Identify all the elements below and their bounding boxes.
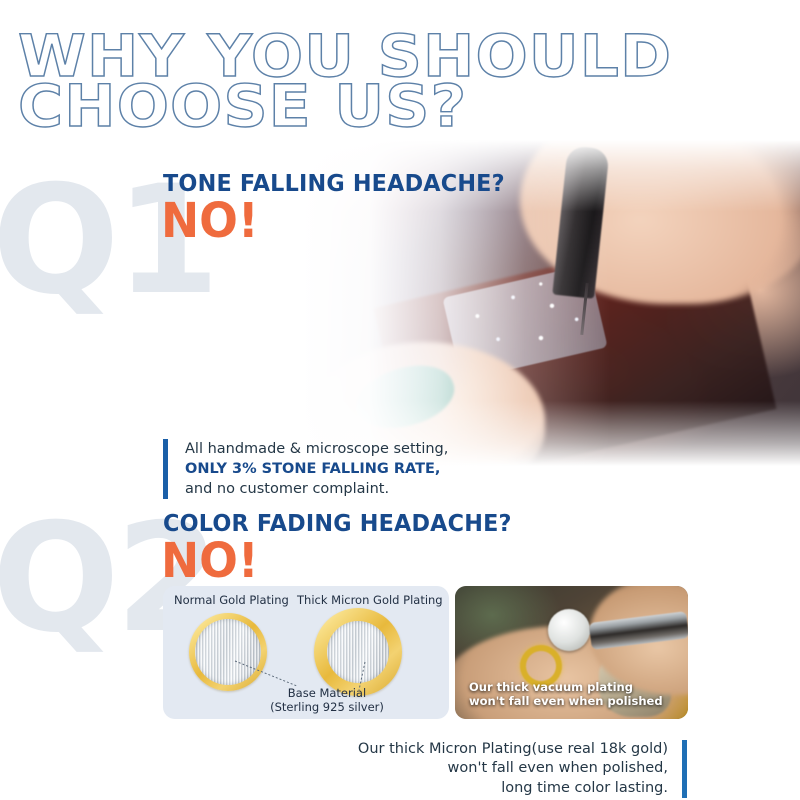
q1-quote-block: All handmade & microscope setting, ONLY …: [163, 439, 448, 499]
diagram-coin-normal-plating: [189, 613, 267, 691]
footnote-line-1: Our thick Micron Plating(use real 18k go…: [330, 740, 668, 759]
q2-answer: NO!: [161, 537, 259, 585]
q1-answer: NO!: [161, 197, 259, 245]
q1-quote-line-1: All handmade & microscope setting,: [185, 439, 448, 459]
diagram-label-thick-plating: Thick Micron Gold Plating: [297, 593, 443, 607]
q2-photo-polishing-wheel: [548, 609, 590, 651]
footnote-line-3: long time color lasting.: [330, 779, 668, 798]
diagram-coin-thick-plating: [314, 608, 402, 696]
q2-caption-line-2: won't fall even when polished: [469, 695, 663, 709]
diagram-label-normal-plating: Normal Gold Plating: [174, 593, 289, 607]
page-title-line-2: CHOOSE US?: [18, 82, 800, 132]
diagram-base-material-callout: Base Material (Sterling 925 silver): [247, 687, 407, 714]
q2-photo-caption: Our thick vacuum plating won't fall even…: [469, 681, 663, 709]
q1-quote-line-3: and no customer complaint.: [185, 479, 448, 499]
plating-comparison-diagram: Normal Gold Plating Thick Micron Gold Pl…: [163, 586, 449, 719]
callout-line-2: (Sterling 925 silver): [247, 701, 407, 715]
q2-photo-polishing-ring: Our thick vacuum plating won't fall even…: [455, 586, 688, 719]
footnote-block: Our thick Micron Plating(use real 18k go…: [330, 740, 687, 798]
footnote-line-2: won't fall even when polished,: [330, 759, 668, 778]
q1-quote-line-2-emphasis: ONLY 3% STONE FALLING RATE,: [185, 459, 448, 479]
question-section-q1: Q1 TONE FALLING HEADACHE? NO! All handma…: [0, 140, 800, 470]
diagram-silver-core-thick: [327, 621, 389, 683]
diagram-silver-core-normal: [195, 619, 261, 685]
page-title: WHY YOU SHOULD CHOOSE US?: [18, 32, 800, 132]
callout-line-1: Base Material: [247, 687, 407, 701]
